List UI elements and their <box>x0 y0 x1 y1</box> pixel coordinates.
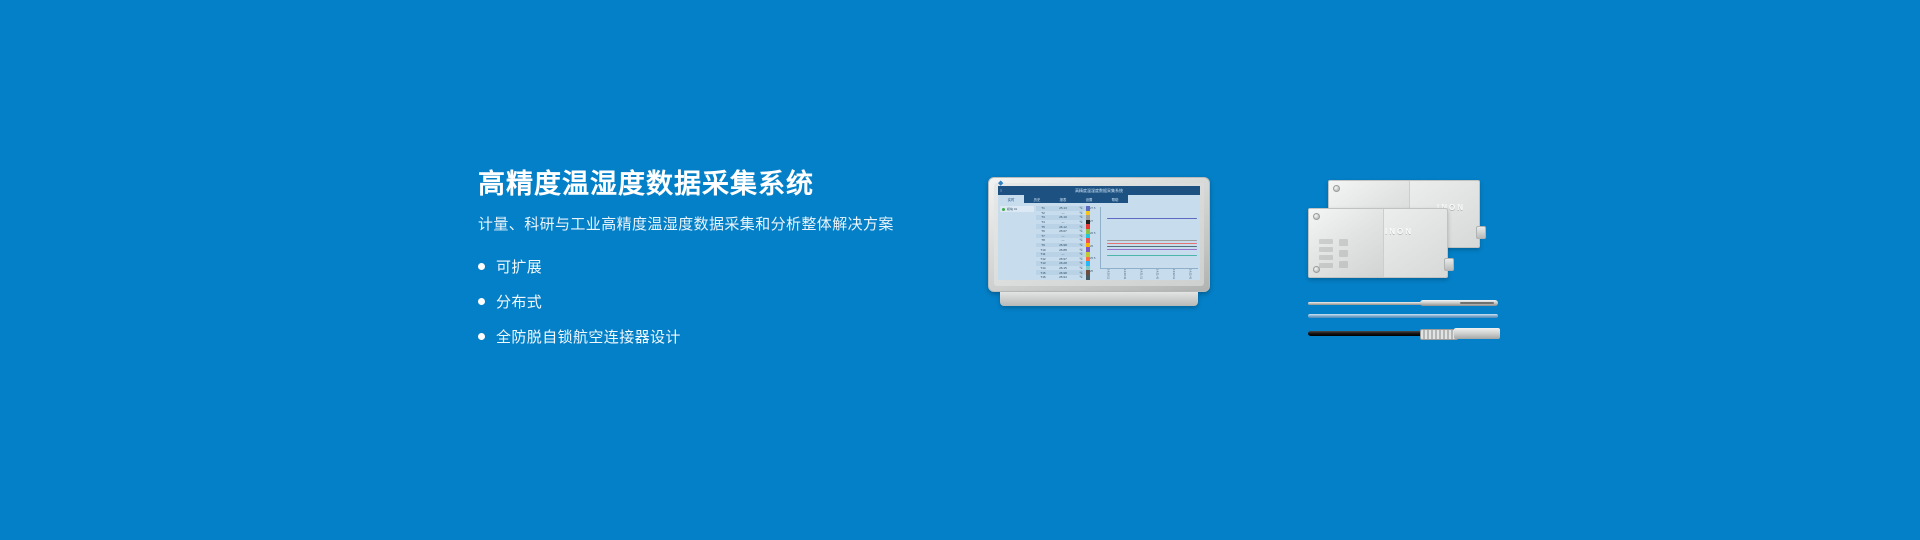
table-row[interactable]: T4---℃ <box>1036 220 1086 225</box>
channel-unit: ℃ <box>1076 215 1086 219</box>
app-tabbar: 实时 历史 报表 设置 帮助 <box>998 195 1200 203</box>
channel-table: T125.13℃T2---℃T326.19℃T4---℃T526.12℃T625… <box>1036 203 1086 280</box>
channel-name: T9 <box>1036 243 1050 247</box>
table-row[interactable]: T1526.98℃ <box>1036 270 1086 275</box>
channel-name: T16 <box>1036 275 1050 279</box>
tab-report[interactable]: 报表 <box>1050 195 1076 203</box>
stainless-probe <box>1308 300 1498 306</box>
table-row[interactable]: T1625.94℃ <box>1036 275 1086 280</box>
feature-label: 分布式 <box>496 291 542 312</box>
menu-icon[interactable]: ≡ <box>1000 188 1002 193</box>
channel-name: T10 <box>1036 248 1050 252</box>
x-tick-label: 14:21:41 <box>1156 269 1159 280</box>
channel-unit: ℃ <box>1076 211 1086 215</box>
x-tick-label: 14:20:11 <box>1107 269 1110 280</box>
x-tick-label: 14:20:41 <box>1123 269 1126 280</box>
probe-connector <box>1420 329 1458 340</box>
channel-name: T13 <box>1036 261 1050 265</box>
cabled-probe <box>1308 328 1498 339</box>
channel-value: 26.19 <box>1050 215 1076 219</box>
channel-value: 25.94 <box>1050 275 1076 279</box>
channel-value: --- <box>1050 211 1076 215</box>
channel-name: T4 <box>1036 220 1050 224</box>
y-tick-label: 26.5 <box>1090 231 1095 235</box>
channel-unit: ℃ <box>1076 248 1086 252</box>
slim-probe <box>1308 314 1498 318</box>
probe-shaft <box>1308 302 1428 305</box>
chart-plot-area <box>1100 207 1198 269</box>
probe-body <box>1454 328 1500 339</box>
y-tick-label: 25 <box>1090 269 1093 273</box>
channel-name: T1 <box>1036 206 1050 210</box>
chart-series-line <box>1107 246 1197 247</box>
channel-value: 26.12 <box>1050 225 1076 229</box>
connector-lug-icon <box>1476 226 1486 239</box>
channel-value: 25.67 <box>1050 229 1076 233</box>
status-led-icon <box>1002 208 1005 211</box>
page-title: 高精度温湿度数据采集系统 <box>478 170 898 200</box>
list-item: 分布式 <box>478 291 898 312</box>
monitor-screen: ≡ 高精度温湿度数据采集系统 实时 历史 报表 设置 帮助 模块 01 T1 <box>998 186 1200 280</box>
channel-name: T15 <box>1036 271 1050 275</box>
channel-unit: ℃ <box>1076 243 1086 247</box>
vendor-mark-icon: ◆ <box>998 181 1004 187</box>
channel-value: --- <box>1050 252 1076 256</box>
channel-unit: ℃ <box>1076 266 1086 270</box>
y-tick-label: 27.5 <box>1090 206 1095 210</box>
channel-unit: ℃ <box>1076 261 1086 265</box>
acquisition-modules: INON INON <box>1308 180 1488 285</box>
channel-value: --- <box>1050 234 1076 238</box>
app-body: 模块 01 T125.13℃T2---℃T326.19℃T4---℃T526.1… <box>998 203 1200 280</box>
table-row[interactable]: T1026.88℃ <box>1036 247 1086 252</box>
channel-name: T2 <box>1036 211 1050 215</box>
brand-label: INON <box>1385 227 1413 236</box>
table-row[interactable]: T7---℃ <box>1036 234 1086 239</box>
x-tick-label: 14:22:41 <box>1188 269 1191 280</box>
table-row[interactable]: T11---℃ <box>1036 252 1086 257</box>
connector-lug-icon <box>1444 258 1454 271</box>
channel-name: T6 <box>1036 229 1050 233</box>
table-row[interactable]: T1326.28℃ <box>1036 261 1086 266</box>
table-row[interactable]: T625.67℃ <box>1036 229 1086 234</box>
channel-name: T8 <box>1036 238 1050 242</box>
table-row[interactable]: T125.13℃ <box>1036 206 1086 211</box>
chart-series-line <box>1107 249 1197 250</box>
chart-series-line <box>1107 255 1197 256</box>
channel-name: T11 <box>1036 252 1050 256</box>
x-tick-label: 14:22:11 <box>1172 269 1175 280</box>
channel-unit: ℃ <box>1076 234 1086 238</box>
screw-icon <box>1313 213 1320 220</box>
panel-pc-monitor: ≡ 高精度温湿度数据采集系统 实时 历史 报表 设置 帮助 模块 01 T1 <box>988 177 1210 292</box>
tab-realtime[interactable]: 实时 <box>998 195 1024 203</box>
table-row[interactable]: T926.98℃ <box>1036 243 1086 248</box>
list-item: 全防脱自锁航空连接器设计 <box>478 326 898 347</box>
tab-history[interactable]: 历史 <box>1024 195 1050 203</box>
channel-value: 26.28 <box>1050 261 1076 265</box>
channel-name: T12 <box>1036 257 1050 261</box>
channel-unit: ℃ <box>1076 220 1086 224</box>
y-tick-label: 26 <box>1090 244 1093 248</box>
module-front-panel <box>1383 209 1447 277</box>
x-tick-label: 14:21:11 <box>1139 269 1142 280</box>
channel-unit: ℃ <box>1076 229 1086 233</box>
tab-settings[interactable]: 设置 <box>1076 195 1102 203</box>
table-row[interactable]: T1225.97℃ <box>1036 257 1086 262</box>
table-row[interactable]: T8---℃ <box>1036 238 1086 243</box>
channel-unit: ℃ <box>1076 225 1086 229</box>
feature-label: 可扩展 <box>496 256 542 277</box>
monitor-stand <box>1000 292 1198 306</box>
tabbar-filler <box>1128 195 1200 203</box>
probe-shaft <box>1308 314 1498 318</box>
channel-unit: ℃ <box>1076 257 1086 261</box>
temperature-probes <box>1308 300 1498 350</box>
sidebar-item-module[interactable]: 模块 01 <box>1000 206 1034 212</box>
channel-value: 26.98 <box>1050 243 1076 247</box>
chart-series-line <box>1107 240 1197 241</box>
probe-slot <box>1460 302 1494 304</box>
channel-unit: ℃ <box>1076 238 1086 242</box>
channel-value: 26.15 <box>1050 266 1076 270</box>
table-row[interactable]: T1426.15℃ <box>1036 266 1086 271</box>
y-tick-label: 27 <box>1090 219 1093 223</box>
channel-value: 25.13 <box>1050 206 1076 210</box>
feature-list: 可扩展 分布式 全防脱自锁航空连接器设计 <box>478 256 898 347</box>
table-row[interactable]: T326.19℃ <box>1036 215 1086 220</box>
app-titlebar: ≡ 高精度温湿度数据采集系统 <box>998 186 1200 195</box>
hero-copy: 高精度温湿度数据采集系统 计量、科研与工业高精度温湿度数据采集和分析整体解决方案… <box>478 170 898 361</box>
feature-label: 全防脱自锁航空连接器设计 <box>496 326 681 347</box>
table-row[interactable]: T2---℃ <box>1036 211 1086 216</box>
app-sidebar: 模块 01 <box>998 203 1036 280</box>
sidebar-item-label: 模块 01 <box>1007 207 1017 211</box>
channel-value: 26.98 <box>1050 271 1076 275</box>
channel-unit: ℃ <box>1076 271 1086 275</box>
tab-help[interactable]: 帮助 <box>1102 195 1128 203</box>
list-item: 可扩展 <box>478 256 898 277</box>
channel-value: --- <box>1050 220 1076 224</box>
y-tick-label: 25.5 <box>1090 256 1095 260</box>
app-window-title: 高精度温湿度数据采集系统 <box>1075 188 1123 194</box>
channel-unit: ℃ <box>1076 275 1086 279</box>
page-subtitle: 计量、科研与工业高精度温湿度数据采集和分析整体解决方案 <box>478 216 898 234</box>
port-grid-icon <box>1319 239 1365 269</box>
channel-value: --- <box>1050 238 1076 242</box>
channel-value: 26.88 <box>1050 248 1076 252</box>
bullet-dot-icon <box>478 333 485 340</box>
channel-name: T7 <box>1036 234 1050 238</box>
chart-x-axis: 14:20:1114:20:4114:21:1114:21:4114:22:11… <box>1100 269 1198 280</box>
bullet-dot-icon <box>478 263 485 270</box>
channel-name: T14 <box>1036 266 1050 270</box>
channel-unit: ℃ <box>1076 252 1086 256</box>
trend-chart: 27.52726.52625.525 14:20:1114:20:4114:21… <box>1090 203 1200 280</box>
chart-series-line <box>1107 243 1197 244</box>
chart-series-line <box>1107 218 1197 219</box>
hero-banner: 高精度温湿度数据采集系统 计量、科研与工业高精度温湿度数据采集和分析整体解决方案… <box>0 0 1920 540</box>
module-front: INON <box>1308 208 1448 278</box>
channel-unit: ℃ <box>1076 206 1086 210</box>
channel-name: T5 <box>1036 225 1050 229</box>
channel-value: 25.97 <box>1050 257 1076 261</box>
channel-name: T3 <box>1036 215 1050 219</box>
probe-cable <box>1308 331 1426 336</box>
bullet-dot-icon <box>478 298 485 305</box>
table-row[interactable]: T526.12℃ <box>1036 224 1086 229</box>
chart-y-axis: 27.52726.52625.525 <box>1090 206 1099 269</box>
screw-icon <box>1333 185 1340 192</box>
